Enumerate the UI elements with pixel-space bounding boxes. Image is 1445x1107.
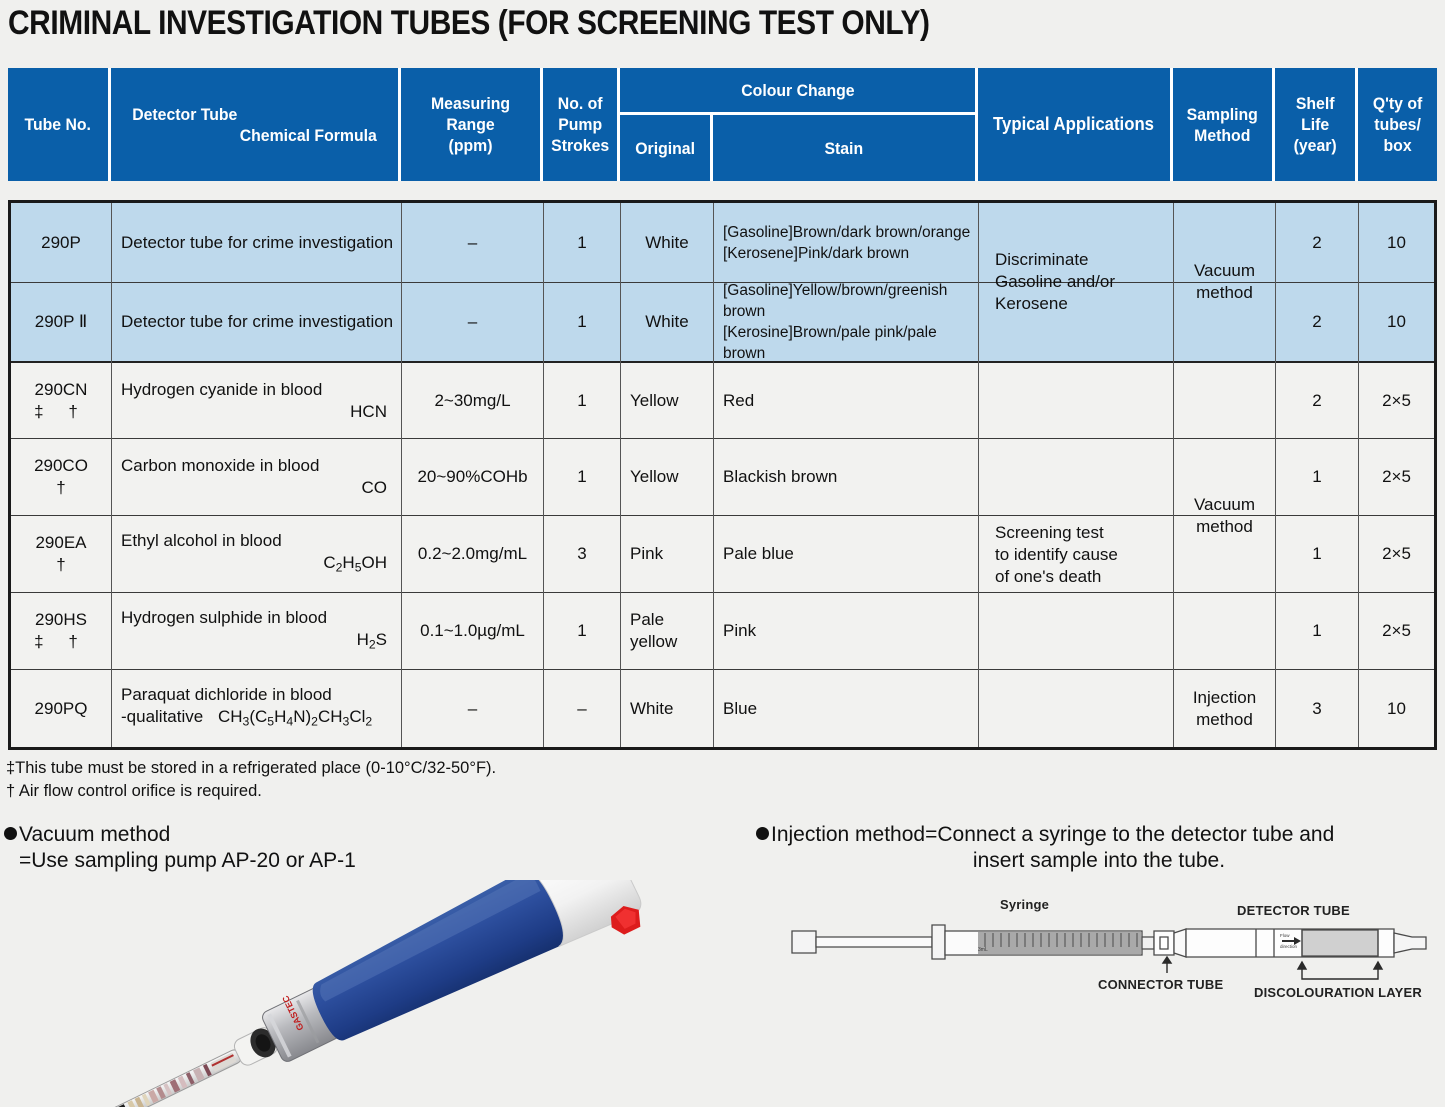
table-row: 290CO † <box>11 439 111 515</box>
cell-shelf-life: 1 <box>1276 439 1358 515</box>
data-table: 290P Detector tube for crime investigati… <box>8 200 1437 750</box>
cell-colour-original: White <box>621 283 713 361</box>
cell-chemical-formula: CO <box>121 477 401 499</box>
table-row: 290EA † <box>11 516 111 592</box>
caption-injection-method: Injection method=Connect a syringe to th… <box>756 822 1396 874</box>
cell-measuring-range: – <box>402 283 543 361</box>
cell-measuring-range: 2~30mg/L <box>402 363 543 438</box>
table-header-band: Tube No. Detector Tube Chemical Formula … <box>8 68 1437 181</box>
cell-colour-original: White <box>621 670 713 747</box>
cell-detector-name: Hydrogen cyanide in blood HCN <box>112 363 401 438</box>
bullet-icon <box>756 827 769 840</box>
cell-chemical-formula: H2S <box>121 629 401 655</box>
cell-qty: 2×5 <box>1359 439 1434 515</box>
row-divider <box>1174 669 1275 670</box>
cell-chemical-formula: HCN <box>121 401 401 423</box>
cell-colour-stain: [Gasoline]Brown/dark brown/orange [Keros… <box>714 203 978 282</box>
cell-tube-marks: ‡ † <box>11 631 111 653</box>
cell-qty: 2×5 <box>1359 363 1434 438</box>
cell-measuring-range: – <box>402 670 543 747</box>
cell-detector-name: Detector tube for crime investigation <box>112 283 401 361</box>
cell-qty: 2×5 <box>1359 593 1434 669</box>
header-tube-no: Tube No. <box>8 68 108 181</box>
cell-tube-no: 290EA <box>11 532 111 554</box>
header-typical-applications: Typical Applications <box>978 68 1170 181</box>
cell-measuring-range: 0.2~2.0mg/mL <box>402 516 543 592</box>
cell-detector-name: Ethyl alcohol in blood C2H5OH <box>112 516 401 592</box>
header-pump-strokes: No. of Pump Strokes <box>543 68 617 181</box>
cell-pump-strokes: – <box>544 670 620 747</box>
header-original: Original <box>620 115 710 181</box>
svg-text:direction: direction <box>1280 944 1298 949</box>
cell-shelf-life: 3 <box>1276 670 1358 747</box>
cell-qty: 10 <box>1359 203 1434 282</box>
svg-text:Flow: Flow <box>1280 933 1290 938</box>
cell-detector-name: Carbon monoxide in blood CO <box>112 439 401 515</box>
cell-tube-marks: ‡ † <box>11 401 111 423</box>
header-qty-per-box: Q'ty of tubes/ box <box>1358 68 1437 181</box>
cell-chemical-formula: C2H5OH <box>121 552 401 578</box>
cell-colour-stain: Pink <box>714 593 978 669</box>
cell-colour-original: White <box>621 203 713 282</box>
cell-tube-marks: † <box>11 554 111 576</box>
cell-tube-no: 290HS <box>11 609 111 631</box>
header-measuring-range: Measuring Range (ppm) <box>401 68 540 181</box>
header-stain: Stain <box>713 115 975 181</box>
cell-detector-name: Paraquat dichloride in blood -qualitativ… <box>112 670 401 747</box>
caption-vacuum-method: Vacuum method =Use sampling pump AP-20 o… <box>4 822 356 874</box>
table-row: 290PQ <box>11 670 111 747</box>
cell-colour-stain: Red <box>714 363 978 438</box>
cell-measuring-range: 20~90%COHb <box>402 439 543 515</box>
svg-text:3mL: 3mL <box>978 947 988 953</box>
table-row: 290CN ‡ † <box>11 363 111 438</box>
cell-colour-stain: Blue <box>714 670 978 747</box>
cell-tube-marks: † <box>11 477 111 499</box>
cell-pump-strokes: 1 <box>544 439 620 515</box>
header-shelf-life: Shelf Life (year) <box>1275 68 1355 181</box>
page-title: CRIMINAL INVESTIGATION TUBES (FOR SCREEN… <box>8 4 930 43</box>
table-row: 290P Ⅱ <box>11 283 111 361</box>
cell-tube-no: 290CN <box>11 379 111 401</box>
cell-typical-applications-merged: Discriminate Gasoline and/or Kerosene <box>979 203 1173 361</box>
cell-pump-strokes: 1 <box>544 283 620 361</box>
footnote-orifice: † Air flow control orifice is required. <box>6 780 262 802</box>
diagram-label-syringe: Syringe <box>1000 897 1049 912</box>
cell-tube-no: 290P <box>11 232 111 254</box>
cell-colour-stain: Pale blue <box>714 516 978 592</box>
cell-shelf-life: 1 <box>1276 516 1358 592</box>
footnote-refrigerated: ‡This tube must be stored in a refrigera… <box>6 757 496 779</box>
table-row: 290HS ‡ † <box>11 593 111 669</box>
header-chemical-formula-label: Chemical Formula <box>132 125 377 146</box>
cell-shelf-life: 2 <box>1276 283 1358 361</box>
header-colour-change: Colour Change <box>620 68 975 112</box>
cell-detector-name: Hydrogen sulphide in blood H2S <box>112 593 401 669</box>
cell-measuring-range: 0.1~1.0µg/mL <box>402 593 543 669</box>
cell-measuring-range: – <box>402 203 543 282</box>
cell-qty: 10 <box>1359 283 1434 361</box>
document-page: CRIMINAL INVESTIGATION TUBES (FOR SCREEN… <box>0 0 1445 1107</box>
sampling-pump-photo: GASTEC <box>0 880 740 1107</box>
diagram-label-discolouration-layer: DISCOLOURATION LAYER <box>1254 985 1422 1000</box>
cell-qty: 10 <box>1359 670 1434 747</box>
injection-method-diagram: 3mL Flow direction Syringe DETECTOR TUBE… <box>782 893 1442 1008</box>
diagram-label-detector-tube: DETECTOR TUBE <box>1237 903 1350 918</box>
diagram-label-connector-tube: CONNECTOR TUBE <box>1098 977 1223 992</box>
cell-sampling-method-merged: Vacuum method <box>1174 203 1275 361</box>
cell-qty: 2×5 <box>1359 516 1434 592</box>
cell-tube-no: 290CO <box>11 455 111 477</box>
cell-typical-applications-merged: Screening test to identify cause of one'… <box>979 363 1173 747</box>
cell-colour-original: Pale yellow <box>621 593 713 669</box>
header-sampling-method: Sampling Method <box>1173 68 1272 181</box>
cell-sampling-method: Injection method <box>1174 670 1275 747</box>
cell-colour-original: Yellow <box>621 439 713 515</box>
cell-sampling-method-merged: Vacuum method <box>1174 363 1275 669</box>
cell-tube-no: 290PQ <box>11 698 111 720</box>
header-detector-tube-label: Detector Tube <box>132 104 377 125</box>
cell-pump-strokes: 1 <box>544 363 620 438</box>
bullet-icon <box>4 827 17 840</box>
detector-tube-graphic <box>80 1048 243 1107</box>
cell-tube-no: 290P Ⅱ <box>11 311 111 333</box>
table-row: 290P <box>11 203 111 282</box>
cell-shelf-life: 2 <box>1276 203 1358 282</box>
cell-chemical-formula: CH3(C5H4N)2CH3Cl2 <box>218 707 372 726</box>
cell-pump-strokes: 1 <box>544 203 620 282</box>
cell-pump-strokes: 1 <box>544 593 620 669</box>
cell-detector-name: Detector tube for crime investigation <box>112 203 401 282</box>
cell-colour-original: Yellow <box>621 363 713 438</box>
cell-colour-stain: [Gasoline]Yellow/brown/greenish brown [K… <box>714 283 978 361</box>
header-detector-tube: Detector Tube Chemical Formula <box>111 68 398 181</box>
cell-pump-strokes: 3 <box>544 516 620 592</box>
cell-colour-stain: Blackish brown <box>714 439 978 515</box>
cell-shelf-life: 1 <box>1276 593 1358 669</box>
cell-shelf-life: 2 <box>1276 363 1358 438</box>
cell-colour-original: Pink <box>621 516 713 592</box>
